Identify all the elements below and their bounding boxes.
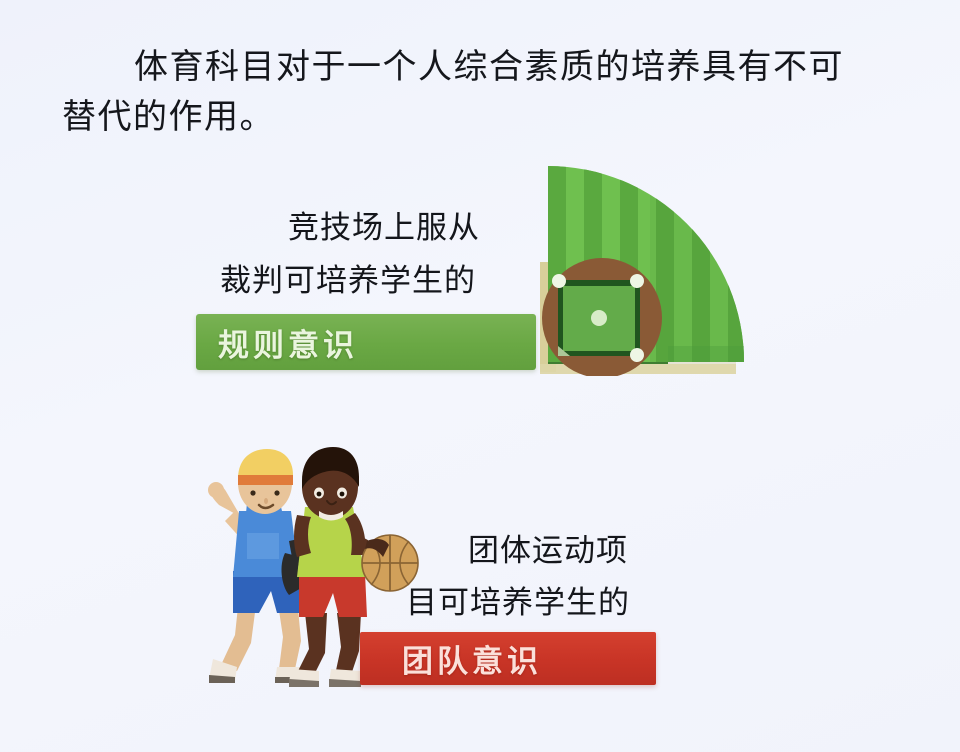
page-title: 体育科目对于一个人综合素质的培养具有不可 替代的作用。 xyxy=(62,42,902,142)
page-title-line-2: 替代的作用。 xyxy=(62,92,902,142)
team-caption-line-1: 团体运动项 xyxy=(468,528,628,573)
team-awareness-banner-label: 团队意识 xyxy=(402,636,542,681)
rule-caption-line-2: 裁判可培养学生的 xyxy=(220,258,476,303)
rule-awareness-banner: 规则意识 xyxy=(196,314,536,370)
baseball-field-icon xyxy=(500,150,770,390)
team-awareness-banner: 团队意识 xyxy=(360,632,656,685)
rule-awareness-banner-label: 规则意识 xyxy=(218,320,358,365)
rule-caption-line-1: 竞技场上服从 xyxy=(288,205,480,250)
team-caption-line-2: 目可培养学生的 xyxy=(406,580,630,625)
page-title-line-1: 体育科目对于一个人综合素质的培养具有不可 xyxy=(62,42,902,92)
poster-canvas: 体育科目对于一个人综合素质的培养具有不可 替代的作用。 xyxy=(0,0,960,752)
